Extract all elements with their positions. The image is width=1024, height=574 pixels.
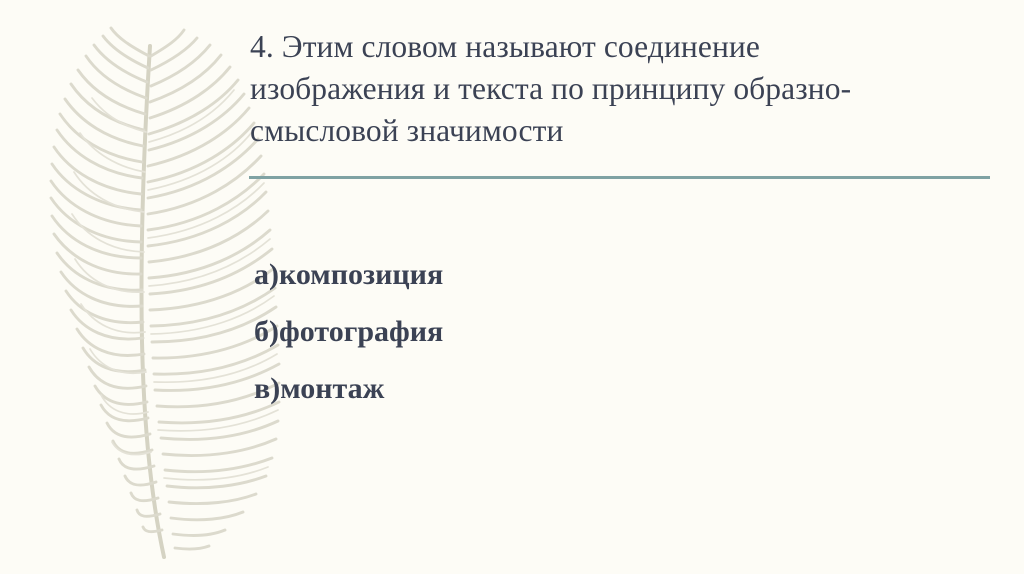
answer-option-a[interactable]: а)композиция: [254, 246, 874, 303]
answer-option-c[interactable]: в)монтаж: [254, 360, 874, 417]
answer-options-list: а)композиция б)фотография в)монтаж: [254, 246, 874, 417]
slide-canvas: 4. Этим словом называют соединение изобр…: [0, 0, 1024, 574]
answer-option-b[interactable]: б)фотография: [254, 303, 874, 360]
page-title: 4. Этим словом называют соединение изобр…: [250, 26, 940, 152]
title-divider: [249, 176, 990, 179]
